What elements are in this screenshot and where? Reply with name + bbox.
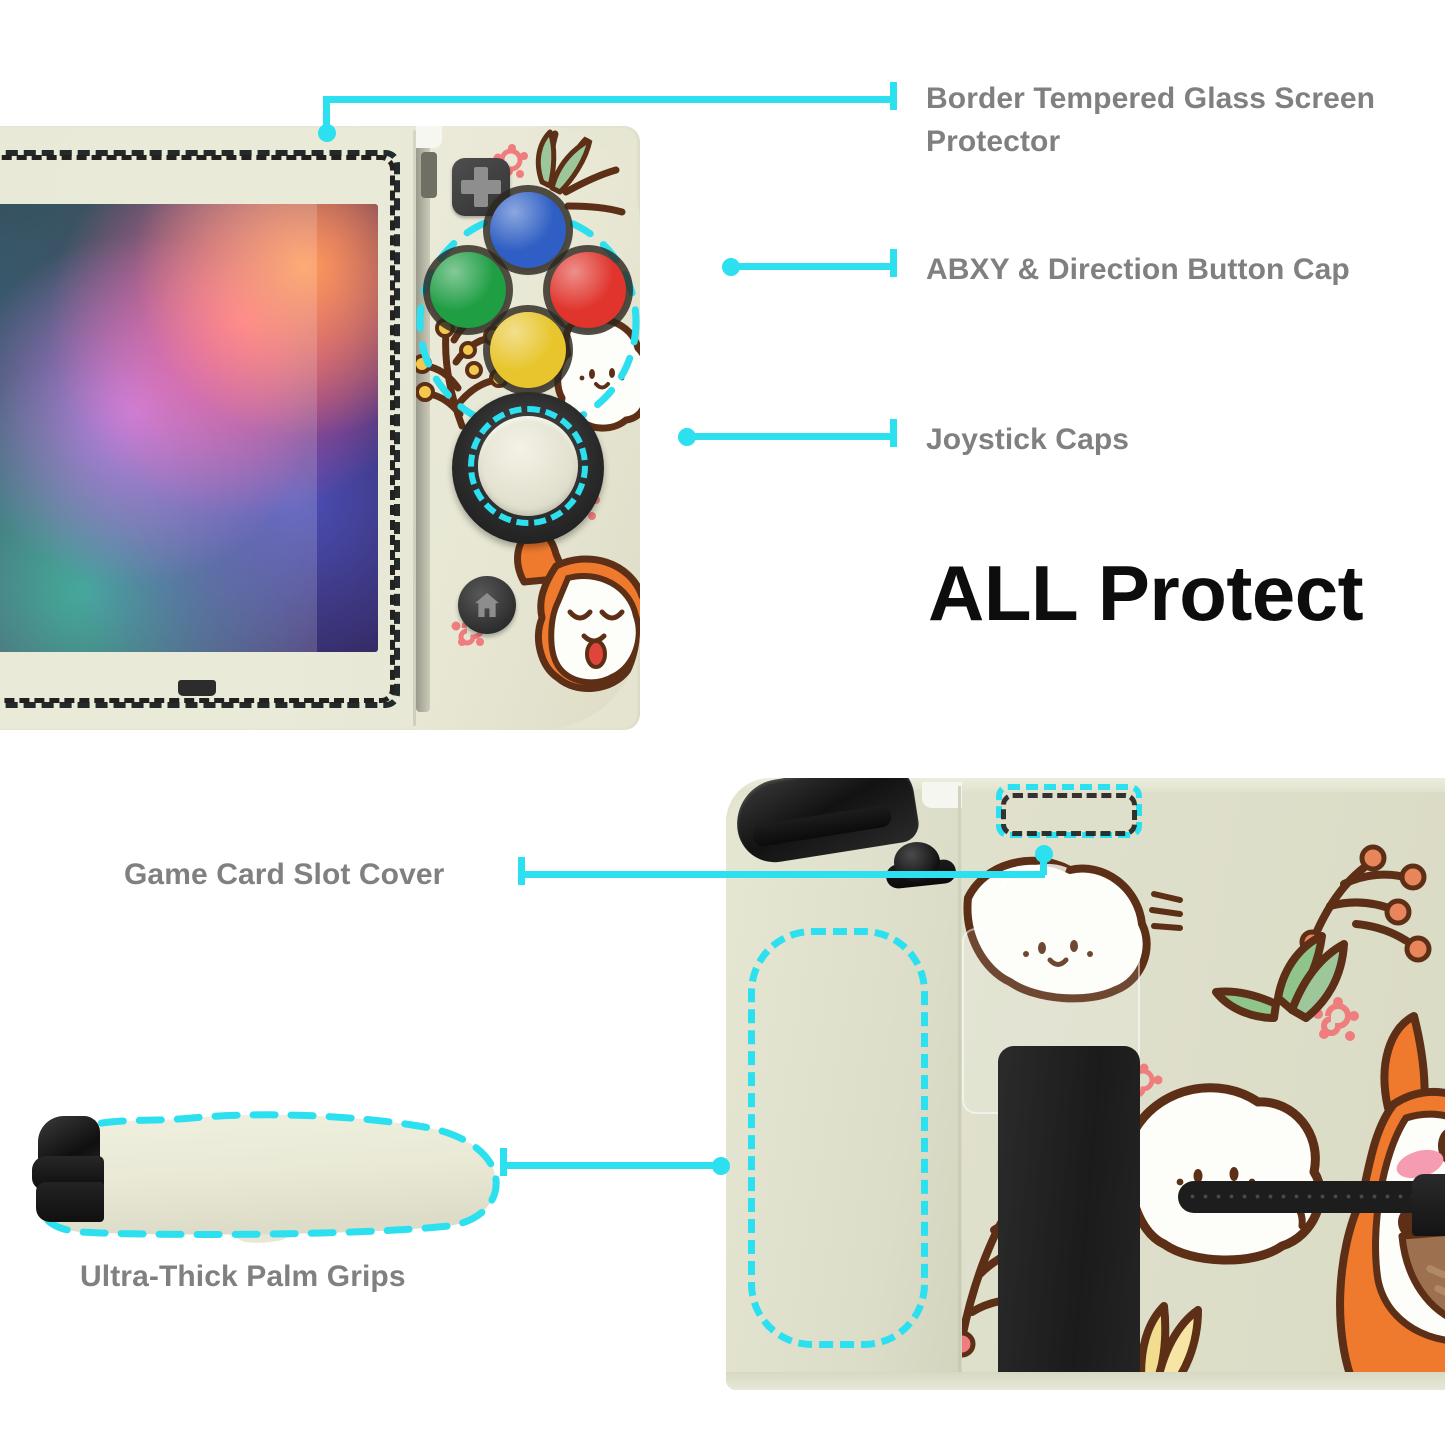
button-b[interactable] bbox=[490, 312, 566, 388]
profile-shoulder-buttons[interactable] bbox=[32, 1116, 110, 1224]
joycon-rail bbox=[416, 144, 430, 712]
screen-protector-outline bbox=[0, 150, 400, 708]
rail-notch bbox=[416, 126, 442, 148]
button-x[interactable] bbox=[490, 192, 566, 268]
palm-grip-profile bbox=[24, 1100, 524, 1270]
leader-h-screen-protector bbox=[323, 96, 896, 103]
back-rail-notch bbox=[922, 782, 962, 808]
switch-console-back bbox=[726, 778, 1445, 1390]
switch-console-front bbox=[0, 126, 640, 730]
corner-pad bbox=[1412, 1174, 1445, 1236]
callout-label-button-caps: ABXY & Direction Button Cap bbox=[926, 249, 1396, 292]
grass-green bbox=[1216, 936, 1344, 1018]
button-a[interactable] bbox=[550, 252, 626, 328]
leader-h-button-caps bbox=[730, 263, 896, 270]
right-joycon bbox=[416, 126, 640, 730]
button-y[interactable] bbox=[430, 252, 506, 328]
speaker-vent-grille bbox=[1178, 1181, 1445, 1213]
kickstand[interactable] bbox=[998, 1046, 1140, 1390]
leader-h-joystick bbox=[686, 433, 896, 440]
home-button[interactable] bbox=[458, 576, 516, 634]
leader-h-palm-grips bbox=[500, 1162, 718, 1169]
joystick[interactable] bbox=[452, 392, 604, 544]
squirrel-character bbox=[518, 531, 640, 688]
callout-label-screen-protector: Border Tempered Glass Screen Protector bbox=[926, 78, 1396, 163]
home-icon bbox=[475, 593, 499, 617]
back-bottom-lip bbox=[726, 1372, 1445, 1390]
callout-label-game-card-slot: Game Card Slot Cover bbox=[124, 854, 544, 897]
hero-heading: ALL Protect bbox=[928, 548, 1363, 639]
leader-h-game-card-slot bbox=[518, 871, 1045, 878]
leader-cap-button-caps bbox=[890, 249, 897, 277]
leader-cap-screen-protector bbox=[890, 82, 897, 110]
rail-tab bbox=[421, 152, 437, 198]
cloud-character-2 bbox=[1129, 1088, 1320, 1260]
joystick-cap-dashed-outline bbox=[468, 406, 588, 526]
game-card-slot-cover-outline bbox=[996, 784, 1142, 838]
callout-label-joystick: Joystick Caps bbox=[926, 419, 1396, 462]
palm-grip-dashed-outline bbox=[748, 928, 928, 1348]
leader-cap-joystick bbox=[890, 419, 897, 447]
infographic-canvas: Border Tempered Glass Screen Protector A… bbox=[0, 0, 1445, 1445]
